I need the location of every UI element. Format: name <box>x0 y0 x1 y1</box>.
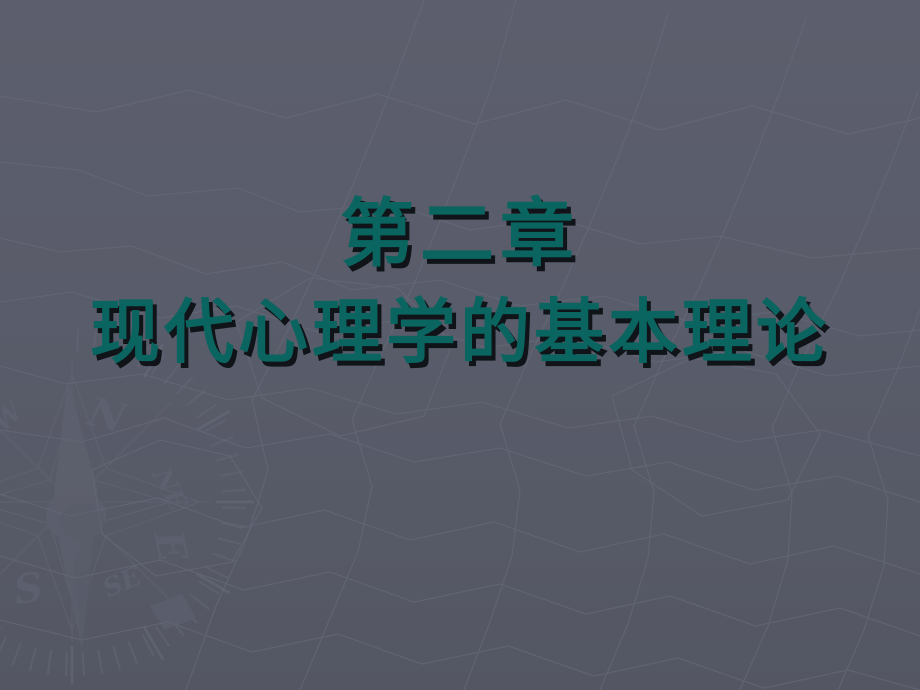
slide-title-block: 第二章 现代心理学的基本理论 <box>0 0 920 690</box>
page-subtitle: 现代心理学的基本理论 <box>0 292 920 372</box>
presentation-slide: N NW NE E SE S 第二章 现代心理学的基本理论 <box>0 0 920 690</box>
page-title: 第二章 <box>0 192 920 276</box>
